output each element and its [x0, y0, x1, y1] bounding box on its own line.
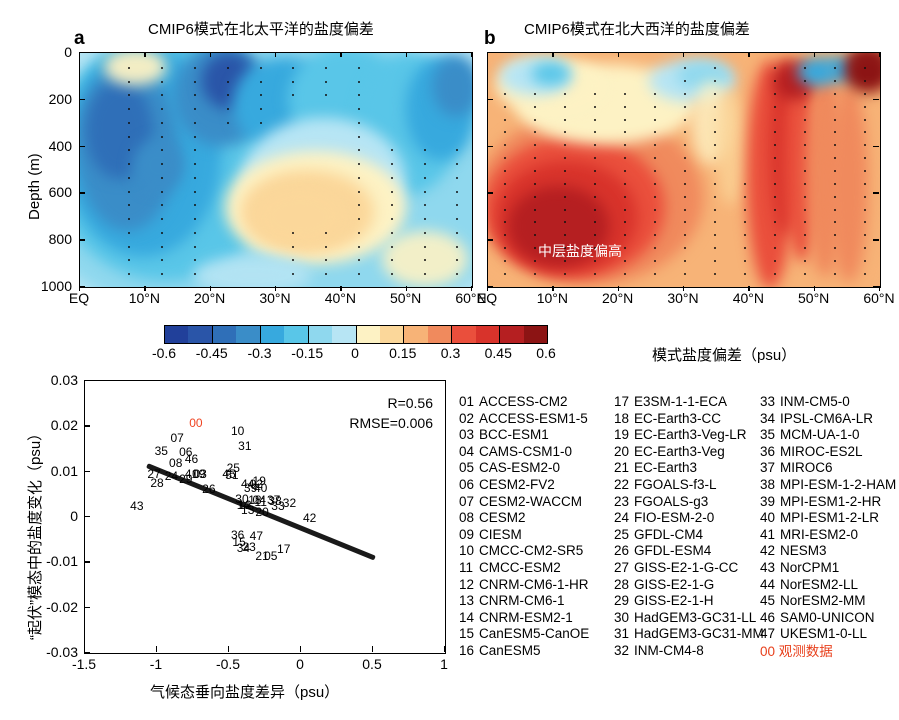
stipple-dot: [804, 119, 806, 121]
model-name: EC-Earth3-CC: [634, 411, 721, 426]
axis-tick: [873, 192, 879, 193]
stipple-dot: [424, 259, 426, 261]
model-list-item: 37MIROC6: [760, 460, 896, 477]
axis-tick: [873, 286, 879, 287]
model-number: 05: [459, 460, 479, 477]
axis-tick: [406, 286, 407, 291]
model-number: 23: [614, 494, 634, 511]
model-name: CanESM5-CanOE: [479, 626, 589, 641]
stipple-dot: [504, 144, 506, 146]
model-number: 26: [614, 543, 634, 560]
stipple-dot: [391, 246, 393, 248]
stipple-dot: [804, 209, 806, 211]
stipple-dot: [864, 119, 866, 121]
stipple-dot: [358, 149, 360, 151]
ytick-label: 0.03: [51, 372, 78, 388]
model-name: CNRM-ESM2-1: [479, 610, 573, 625]
colorbar-tick-label: -0.6: [152, 345, 176, 361]
stipple-dot: [128, 81, 130, 83]
model-list-item: 45NorESM2-MM: [760, 593, 896, 610]
stipple-dot: [834, 157, 836, 159]
stipple-dot: [684, 221, 686, 223]
model-name: ACCESS-ESM1-5: [479, 411, 588, 426]
stipple-dot: [194, 149, 196, 151]
stipple-dot: [654, 247, 656, 249]
stipple-dot: [864, 234, 866, 236]
stipple-dot: [744, 221, 746, 223]
stipple-dot: [594, 196, 596, 198]
stipple-dot: [744, 196, 746, 198]
model-list-item: 30HadGEM3-GC31-LL: [614, 610, 764, 627]
stipple-dot: [424, 177, 426, 179]
stipple-dot: [864, 183, 866, 185]
model-list-item: 20EC-Earth3-Veg: [614, 444, 764, 461]
stipple-dot: [774, 106, 776, 108]
figure-root: a CMIP6模式在北太平洋的盐度偏差 02004006008001000 EQ…: [0, 0, 899, 720]
stipple-dot: [624, 119, 626, 121]
panel-b-title: CMIP6模式在北大西洋的盐度偏差: [524, 18, 750, 39]
colorbar-segment: [428, 326, 452, 343]
stipple-dot: [564, 106, 566, 108]
xtick-label: 10°N: [129, 290, 160, 306]
stipple-dot: [456, 218, 458, 220]
panel-a-stipple: [80, 53, 472, 287]
stipple-dot: [864, 93, 866, 95]
stipple-dot: [624, 209, 626, 211]
stipple-dot: [834, 80, 836, 82]
model-number: 41: [760, 527, 780, 544]
stipple-dot: [456, 191, 458, 193]
ytick-label: -0.01: [46, 553, 78, 569]
colorbar-segment: [524, 326, 547, 343]
model-name: CESM2-WACCM: [479, 494, 582, 509]
model-list-item: 42NESM3: [760, 543, 896, 560]
stipple-dot: [564, 157, 566, 159]
model-name: NorESM2-LL: [780, 577, 858, 592]
axis-tick: [144, 286, 145, 291]
stipple-dot: [864, 157, 866, 159]
colorbar-tick-label: 0.45: [485, 345, 512, 361]
stipple-dot: [534, 119, 536, 121]
axis-tick: [340, 52, 341, 57]
stipple-dot: [391, 191, 393, 193]
stipple-dot: [684, 234, 686, 236]
scatter-label: 20: [255, 505, 268, 519]
stipple-dot: [194, 177, 196, 179]
stipple-dot: [504, 131, 506, 133]
stipple-dot: [161, 273, 163, 275]
stipple-dot: [864, 247, 866, 249]
stipple-dot: [714, 183, 716, 185]
stipple-dot: [744, 260, 746, 262]
colorbar-segment: [476, 326, 500, 343]
axis-tick: [210, 286, 211, 291]
axis-tick: [84, 607, 90, 608]
stipple-dot: [358, 191, 360, 193]
stipple-dot: [744, 183, 746, 185]
axis-tick: [275, 52, 276, 57]
stipple-dot: [194, 163, 196, 165]
model-list-item: 27GISS-E2-1-G-CC: [614, 560, 764, 577]
axis-tick: [873, 239, 879, 240]
model-name: E3SM-1-1-ECA: [634, 394, 727, 409]
model-name: EC-Earth3-Veg: [634, 444, 725, 459]
axis-tick: [228, 646, 229, 652]
stipple-dot: [504, 247, 506, 249]
panel-a-letter: a: [74, 28, 85, 50]
model-list-item: 31HadGEM3-GC31-MM: [614, 626, 764, 643]
stipple-dot: [292, 246, 294, 248]
model-number: 40: [760, 510, 780, 527]
stipple-dot: [504, 106, 506, 108]
xtick-label: 20°N: [602, 290, 633, 306]
stipple-dot: [534, 157, 536, 159]
model-number: 29: [614, 593, 634, 610]
stipple-dot: [774, 196, 776, 198]
stipple-dot: [534, 221, 536, 223]
model-list-item: 32INM-CM4-8: [614, 643, 764, 660]
axis-tick: [210, 52, 211, 57]
model-name: GFDL-ESM4: [634, 543, 711, 558]
ytick-label: 800: [49, 231, 72, 247]
colorbar-segment: [500, 326, 523, 343]
axis-tick: [79, 192, 85, 193]
stipple-dot: [594, 131, 596, 133]
stipple-dot: [128, 246, 130, 248]
scatter-label: 03: [194, 467, 207, 481]
ytick-label: 0.01: [51, 463, 78, 479]
xtick-label: 0: [296, 656, 304, 672]
model-name: HadGEM3-GC31-MM: [634, 626, 764, 641]
stipple-dot: [564, 273, 566, 275]
stipple-dot: [774, 234, 776, 236]
stipple-dot: [714, 144, 716, 146]
stipple-dot: [864, 209, 866, 211]
model-number: 31: [614, 626, 634, 643]
stipple-dot: [534, 247, 536, 249]
correlation-stat: R=0.56: [387, 395, 433, 411]
stipple-dot: [834, 67, 836, 69]
model-list-item: 12CNRM-CM6-1-HR: [459, 577, 589, 594]
ytick-label: 0: [70, 508, 78, 524]
model-list-item: 23FGOALS-g3: [614, 494, 764, 511]
stipple-dot: [534, 196, 536, 198]
colorbar-segment: [213, 326, 236, 343]
stipple-dot: [391, 218, 393, 220]
axis-tick: [79, 146, 85, 147]
xtick-label: -1.5: [72, 656, 96, 672]
stipple-dot: [456, 204, 458, 206]
axis-tick: [487, 146, 493, 147]
stipple-dot: [161, 246, 163, 248]
stipple-dot: [292, 94, 294, 96]
model-list-item: 44NorESM2-LL: [760, 577, 896, 594]
model-number: 07: [459, 494, 479, 511]
scatter-label: 26: [202, 482, 215, 496]
model-list-item: 06CESM2-FV2: [459, 477, 589, 494]
stipple-dot: [194, 218, 196, 220]
axis-tick: [814, 286, 815, 291]
model-list-column-2: 17E3SM-1-1-ECA18EC-Earth3-CC19EC-Earth3-…: [614, 394, 764, 660]
model-list-item: 21EC-Earth3: [614, 460, 764, 477]
stipple-dot: [424, 163, 426, 165]
stipple-dot: [260, 122, 262, 124]
model-list-item: 29GISS-E2-1-H: [614, 593, 764, 610]
model-number: 30: [614, 610, 634, 627]
model-number: 36: [760, 444, 780, 461]
model-list-item: 11CMCC-ESM2: [459, 560, 589, 577]
stipple-dot: [534, 183, 536, 185]
model-number: 34: [760, 411, 780, 428]
model-name: CESM2: [479, 510, 526, 525]
model-list-item: 41MRI-ESM2-0: [760, 527, 896, 544]
axis-tick: [79, 239, 85, 240]
model-number: 10: [459, 543, 479, 560]
stipple-dot: [804, 93, 806, 95]
model-list-item: 07CESM2-WACCM: [459, 494, 589, 511]
stipple-dot: [534, 144, 536, 146]
stipple-dot: [161, 108, 163, 110]
xtick-label: 0.5: [362, 656, 381, 672]
scatter-label: 32: [283, 496, 296, 510]
stipple-dot: [358, 273, 360, 275]
model-list-item: 09CIESM: [459, 527, 589, 544]
model-list-item: 47UKESM1-0-LL: [760, 626, 896, 643]
colorbar-segment: [452, 326, 475, 343]
xtick-label: -1: [150, 656, 162, 672]
model-number: 11: [459, 560, 479, 577]
stipple-dot: [358, 94, 360, 96]
ytick-label: 400: [49, 138, 72, 154]
axis-tick: [683, 286, 684, 291]
stipple-dot: [684, 170, 686, 172]
xtick-label: 50°N: [390, 290, 421, 306]
colorbar-tick-label: -0.15: [291, 345, 323, 361]
stipple-dot: [424, 273, 426, 275]
stipple-dot: [128, 273, 130, 275]
stipple-dot: [624, 196, 626, 198]
stipple-dot: [391, 273, 393, 275]
xtick-label: 10°N: [537, 290, 568, 306]
stipple-dot: [804, 157, 806, 159]
rmse-stat: RMSE=0.006: [349, 415, 433, 431]
model-list-column-3: 33INM-CM5-034IPSL-CM6A-LR35MCM-UA-1-036M…: [760, 394, 896, 643]
stipple-dot: [744, 209, 746, 211]
model-name: EC-Earth3: [634, 460, 697, 475]
model-number: 04: [459, 444, 479, 461]
stipple-dot: [594, 106, 596, 108]
stipple-dot: [714, 273, 716, 275]
stipple-dot: [684, 209, 686, 211]
stipple-dot: [624, 157, 626, 159]
stipple-dot: [504, 234, 506, 236]
model-list-item: 33INM-CM5-0: [760, 394, 896, 411]
stipple-dot: [744, 247, 746, 249]
colorbar-segment: [309, 326, 332, 343]
colorbar-segment: [261, 326, 284, 343]
stipple-dot: [684, 93, 686, 95]
stipple-dot: [564, 196, 566, 198]
stipple-dot: [564, 183, 566, 185]
stipple-dot: [624, 273, 626, 275]
stipple-dot: [358, 177, 360, 179]
stipple-dot: [534, 106, 536, 108]
stipple-dot: [391, 177, 393, 179]
stipple-dot: [864, 260, 866, 262]
model-name: CESM2-FV2: [479, 477, 555, 492]
stipple-dot: [534, 93, 536, 95]
stipple-dot: [194, 122, 196, 124]
stipple-dot: [325, 94, 327, 96]
model-list-item: 14CNRM-ESM2-1: [459, 610, 589, 627]
scatter-label: 07: [170, 431, 183, 445]
stipple-dot: [864, 196, 866, 198]
stipple-dot: [714, 157, 716, 159]
stipple-dot: [714, 247, 716, 249]
stipple-dot: [534, 260, 536, 262]
stipple-dot: [534, 273, 536, 275]
panel-a-plot: [79, 52, 473, 288]
panel-a-ylabel: Depth (m): [26, 153, 43, 220]
stipple-dot: [594, 157, 596, 159]
stipple-dot: [161, 94, 163, 96]
stipple-dot: [424, 149, 426, 151]
stipple-dot: [194, 204, 196, 206]
model-list-item: 36MIROC-ES2L: [760, 444, 896, 461]
stipple-dot: [834, 106, 836, 108]
stipple-dot: [864, 144, 866, 146]
model-name: FIO-ESM-2-0: [634, 510, 714, 525]
stipple-dot: [227, 108, 229, 110]
model-number: 43: [760, 560, 780, 577]
model-list-item: 26GFDL-ESM4: [614, 543, 764, 560]
stipple-dot: [161, 149, 163, 151]
stipple-dot: [194, 246, 196, 248]
model-name: MPI-ESM1-2-LR: [780, 510, 879, 525]
stipple-dot: [594, 119, 596, 121]
xtick-label: 30°N: [259, 290, 290, 306]
stipple-dot: [358, 122, 360, 124]
stipple-dot: [325, 259, 327, 261]
axis-tick: [879, 286, 880, 291]
model-number: 42: [760, 543, 780, 560]
colorbar-segment: [404, 326, 427, 343]
model-number: 45: [760, 593, 780, 610]
stipple-dot: [456, 246, 458, 248]
stipple-dot: [194, 191, 196, 193]
stipple-dot: [564, 234, 566, 236]
stipple-dot: [194, 67, 196, 69]
stipple-dot: [161, 218, 163, 220]
colorbar-tick-label: 0.3: [441, 345, 460, 361]
stipple-dot: [456, 259, 458, 261]
model-name: CAS-ESM2-0: [479, 460, 560, 475]
stipple-dot: [774, 260, 776, 262]
stipple-dot: [161, 204, 163, 206]
stipple-dot: [864, 80, 866, 82]
stipple-dot: [654, 131, 656, 133]
stipple-dot: [564, 221, 566, 223]
model-list-item: 19EC-Earth3-Veg-LR: [614, 427, 764, 444]
axis-tick: [79, 52, 85, 53]
colorbar-tick-label: 0.15: [389, 345, 416, 361]
axis-tick: [748, 52, 749, 57]
xtick-label: 50°N: [798, 290, 829, 306]
stipple-dot: [391, 204, 393, 206]
xtick-label: 60°N: [863, 290, 894, 306]
scatter-label-observation: 00: [189, 416, 202, 430]
stipple-dot: [504, 170, 506, 172]
stipple-dot: [714, 119, 716, 121]
stipple-dot: [594, 170, 596, 172]
stipple-dot: [194, 136, 196, 138]
model-number: 12: [459, 577, 479, 594]
stipple-dot: [804, 247, 806, 249]
stipple-dot: [624, 131, 626, 133]
stipple-dot: [358, 67, 360, 69]
model-number: 15: [459, 626, 479, 643]
stipple-dot: [456, 177, 458, 179]
axis-tick: [84, 561, 90, 562]
model-name: IPSL-CM6A-LR: [780, 411, 873, 426]
stipple-dot: [834, 247, 836, 249]
axis-tick: [275, 286, 276, 291]
colorbar-segment: [165, 326, 188, 343]
stipple-dot: [534, 209, 536, 211]
stipple-dot: [774, 93, 776, 95]
colorbar: [164, 325, 548, 344]
stipple-dot: [804, 67, 806, 69]
stipple-dot: [804, 196, 806, 198]
scatter-label: 05: [264, 549, 277, 563]
axis-tick: [487, 286, 493, 287]
stipple-dot: [684, 131, 686, 133]
stipple-dot: [504, 196, 506, 198]
colorbar-segment: [332, 326, 356, 343]
axis-tick: [340, 286, 341, 291]
stipple-dot: [424, 204, 426, 206]
stipple-dot: [391, 232, 393, 234]
scatter-label: 28: [150, 476, 163, 490]
stipple-dot: [624, 260, 626, 262]
stipple-dot: [834, 131, 836, 133]
axis-tick: [618, 286, 619, 291]
model-list-item: 16CanESM5: [459, 643, 589, 660]
axis-tick: [487, 239, 493, 240]
scatter-label: 10: [231, 424, 244, 438]
stipple-dot: [325, 232, 327, 234]
model-name: GISS-E2-1-H: [634, 593, 714, 608]
stipple-dot: [128, 122, 130, 124]
model-name: UKESM1-0-LL: [780, 626, 867, 641]
stipple-dot: [161, 163, 163, 165]
scatter-label: 23: [242, 540, 255, 554]
stipple-dot: [504, 119, 506, 121]
stipple-dot: [714, 131, 716, 133]
axis-tick: [144, 52, 145, 57]
model-name: CAMS-CSM1-0: [479, 444, 572, 459]
stipple-dot: [128, 67, 130, 69]
stipple-dot: [804, 234, 806, 236]
stipple-dot: [161, 191, 163, 193]
model-number: 28: [614, 577, 634, 594]
stipple-dot: [834, 119, 836, 121]
stipple-dot: [624, 93, 626, 95]
model-name: MPI-ESM1-2-HR: [780, 494, 881, 509]
scatter-label: 46: [185, 452, 198, 466]
stipple-dot: [504, 273, 506, 275]
stipple-dot: [358, 246, 360, 248]
